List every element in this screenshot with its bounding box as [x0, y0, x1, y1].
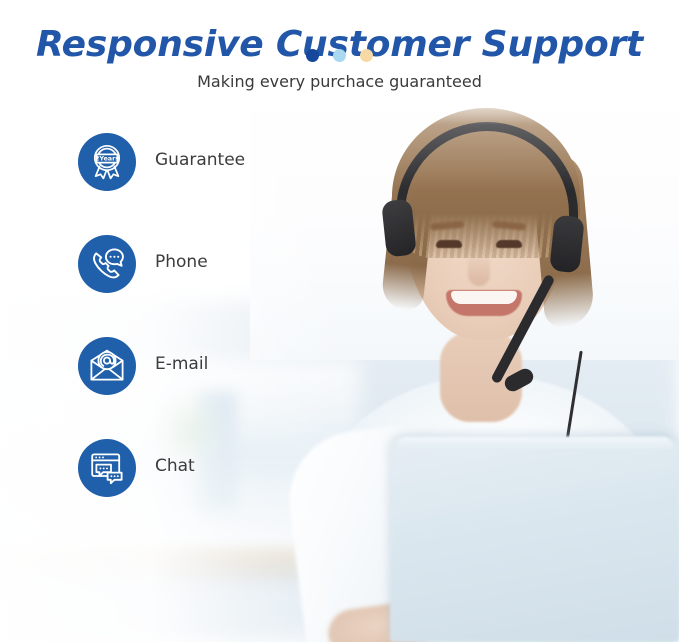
feature-label-email: E-mail	[155, 354, 208, 374]
support-banner: Responsive Customer Support Making every…	[0, 0, 679, 642]
feature-list: 2Years Guarantee Phone	[78, 133, 378, 541]
feature-label-guarantee: Guarantee	[155, 150, 245, 170]
svg-text:2Years: 2Years	[95, 155, 119, 163]
dot-active[interactable]	[306, 49, 319, 62]
feature-label-phone: Phone	[155, 252, 208, 272]
phone-chat-icon	[78, 235, 136, 293]
feature-item-guarantee[interactable]: 2Years Guarantee	[78, 133, 378, 235]
dot-tan[interactable]	[360, 49, 373, 62]
carousel-dots[interactable]	[0, 49, 679, 62]
feature-label-chat: Chat	[155, 456, 195, 476]
feature-item-email[interactable]: E-mail	[78, 337, 378, 439]
chat-window-icon	[78, 439, 136, 497]
page-subtitle: Making every purchace guaranteed	[0, 72, 679, 91]
feature-item-chat[interactable]: Chat	[78, 439, 378, 541]
feature-item-phone[interactable]: Phone	[78, 235, 378, 337]
dot-light-blue[interactable]	[333, 49, 346, 62]
envelope-at-icon	[78, 337, 136, 395]
award-badge-icon: 2Years	[78, 133, 136, 191]
